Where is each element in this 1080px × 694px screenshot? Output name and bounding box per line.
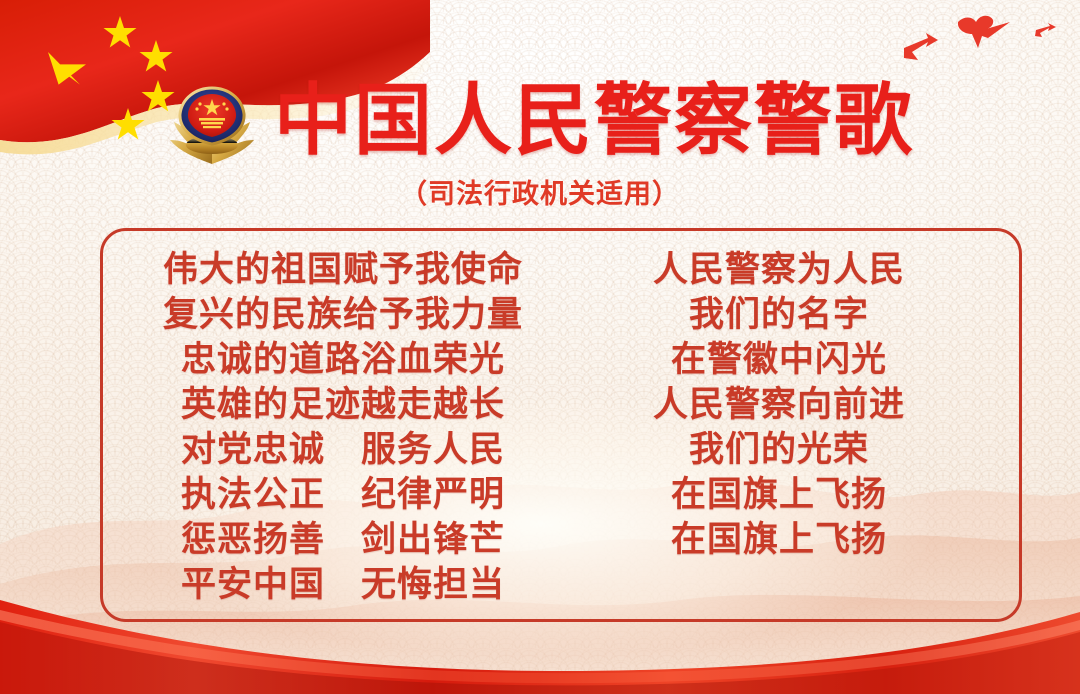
page-title: 中国人民警察警歌 xyxy=(274,81,914,159)
lyric-line: 伟大的祖国赋予我使命 xyxy=(125,247,561,292)
poster-subtitle: （司法行政机关适用） xyxy=(0,172,1080,211)
lyrics-frame: 伟大的祖国赋予我使命 复兴的民族给予我力量 忠诚的道路浴血荣光 英雄的足迹越走越… xyxy=(100,228,1022,622)
lyric-line: 在国旗上飞扬 xyxy=(561,472,997,517)
lyric-line: 英雄的足迹越走越长 xyxy=(125,382,561,427)
lyric-line: 在国旗上飞扬 xyxy=(561,517,997,562)
lyric-line: 我们的光荣 xyxy=(561,427,997,472)
lyric-line: 人民警察为人民 xyxy=(561,247,997,292)
lyric-line: 对党忠诚 服务人民 xyxy=(125,427,561,472)
poster-header: 中国人民警察警歌 xyxy=(0,76,1080,164)
lyrics-right-column: 人民警察为人民 我们的名字 在警徽中闪光 人民警察向前进 我们的光荣 在国旗上飞… xyxy=(561,247,997,605)
lyric-line: 执法公正 纪律严明 xyxy=(125,472,561,517)
lyric-line: 我们的名字 xyxy=(561,292,997,337)
police-anthem-poster: 中国人民警察警歌 （司法行政机关适用） 伟大的祖国赋予我使命 复兴的民族给予我力… xyxy=(0,0,1080,694)
lyric-line: 人民警察向前进 xyxy=(561,382,997,427)
lyric-line: 惩恶扬善 剑出锋芒 xyxy=(125,517,561,562)
lyric-line: 在警徽中闪光 xyxy=(561,337,997,382)
lyrics-left-column: 伟大的祖国赋予我使命 复兴的民族给予我力量 忠诚的道路浴血荣光 英雄的足迹越走越… xyxy=(125,247,561,605)
red-ribbon-banner-icon xyxy=(0,564,1080,694)
lyric-line: 忠诚的道路浴血荣光 xyxy=(125,337,561,382)
police-badge-icon xyxy=(166,82,258,164)
lyric-line: 复兴的民族给予我力量 xyxy=(125,292,561,337)
